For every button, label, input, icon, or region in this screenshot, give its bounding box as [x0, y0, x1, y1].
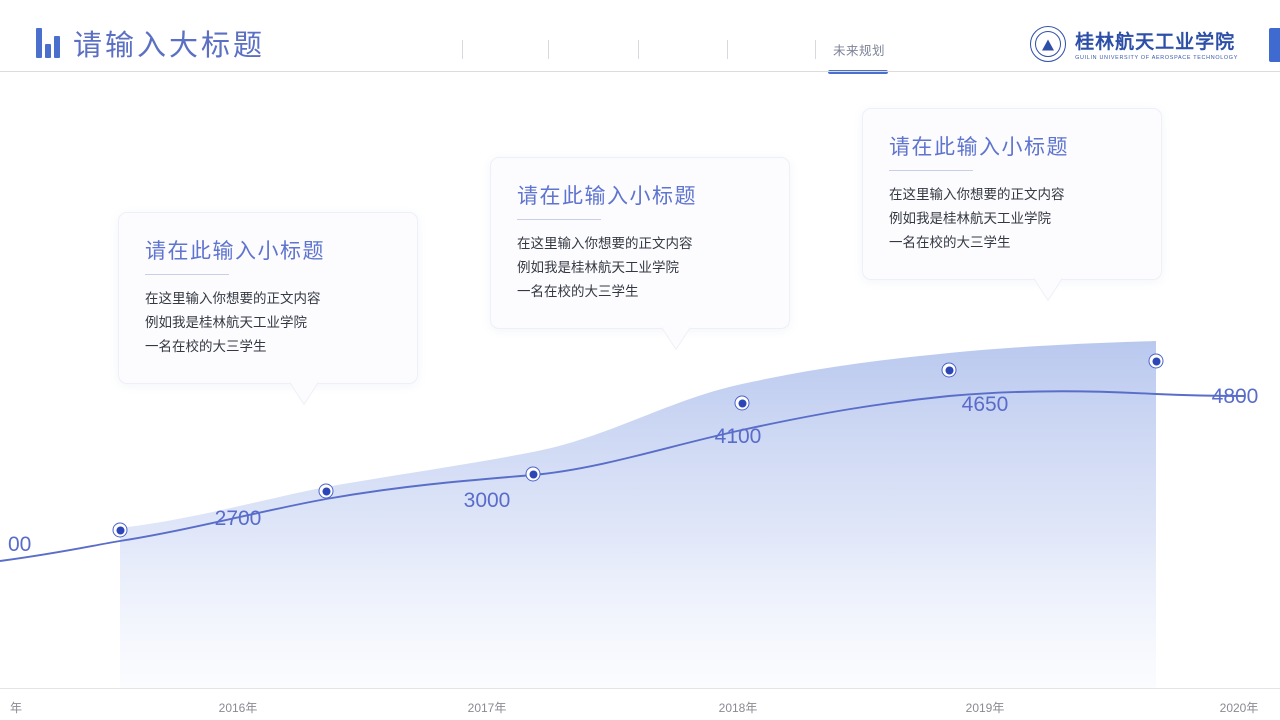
callout-body-line: 例如我是桂林航天工业学院 — [145, 311, 391, 335]
callout-body-line: 在这里输入你想要的正文内容 — [889, 183, 1135, 207]
callout-body-line: 一名在校的大三学生 — [517, 280, 763, 304]
callout-title: 请在此输入小标题 — [517, 180, 763, 210]
slide: 请输入大标题 未来规划 桂林航天工业学院 GUILIN UNIVERSITY O… — [0, 0, 1280, 720]
callout-title: 请在此输入小标题 — [889, 131, 1135, 161]
chart-point-marker[interactable] — [942, 363, 957, 378]
callout-card: 请在此输入小标题 在这里输入你想要的正文内容 例如我是桂林航天工业学院 一名在校… — [862, 108, 1162, 280]
chart-data-label: 4650 — [962, 393, 1009, 417]
x-tick-label: 2020年 — [1220, 699, 1259, 716]
callout-card: 请在此输入小标题 在这里输入你想要的正文内容 例如我是桂林航天工业学院 一名在校… — [490, 157, 790, 329]
callout-body-line: 在这里输入你想要的正文内容 — [145, 287, 391, 311]
callout-body-line: 例如我是桂林航天工业学院 — [517, 256, 763, 280]
chart-data-label: 4800 — [1212, 385, 1259, 409]
x-tick-label: 2016年 — [219, 699, 258, 716]
chart-axis-line — [0, 688, 1280, 689]
callout-card: 请在此输入小标题 在这里输入你想要的正文内容 例如我是桂林航天工业学院 一名在校… — [118, 212, 418, 384]
callout-body-line: 一名在校的大三学生 — [889, 231, 1135, 255]
callout-body: 在这里输入你想要的正文内容 例如我是桂林航天工业学院 一名在校的大三学生 — [145, 287, 391, 359]
x-tick-label: 年 — [10, 699, 22, 716]
chart-point-marker[interactable] — [735, 396, 750, 411]
callout-title: 请在此输入小标题 — [145, 235, 391, 265]
callout-rule — [889, 170, 973, 171]
callout-rule — [517, 219, 601, 220]
chart-point-marker[interactable] — [526, 467, 541, 482]
chart-point-marker[interactable] — [319, 484, 334, 499]
chart-data-label: 00 — [8, 533, 31, 557]
chart-x-labels: 年 2016年 2017年 2018年 2019年 2020年 — [0, 699, 1280, 720]
chart-point-marker[interactable] — [113, 523, 128, 538]
chart-data-label: 4100 — [715, 425, 762, 449]
callout-body-line: 在这里输入你想要的正文内容 — [517, 232, 763, 256]
chart-data-label: 3000 — [464, 489, 511, 513]
chart-point-marker[interactable] — [1149, 354, 1164, 369]
chart-data-label: 2700 — [215, 507, 262, 531]
callout-body-line: 例如我是桂林航天工业学院 — [889, 207, 1135, 231]
x-tick-label: 2018年 — [719, 699, 758, 716]
callout-body-line: 一名在校的大三学生 — [145, 335, 391, 359]
x-tick-label: 2019年 — [966, 699, 1005, 716]
callout-rule — [145, 274, 229, 275]
callout-body: 在这里输入你想要的正文内容 例如我是桂林航天工业学院 一名在校的大三学生 — [889, 183, 1135, 255]
x-tick-label: 2017年 — [468, 699, 507, 716]
callout-body: 在这里输入你想要的正文内容 例如我是桂林航天工业学院 一名在校的大三学生 — [517, 232, 763, 304]
